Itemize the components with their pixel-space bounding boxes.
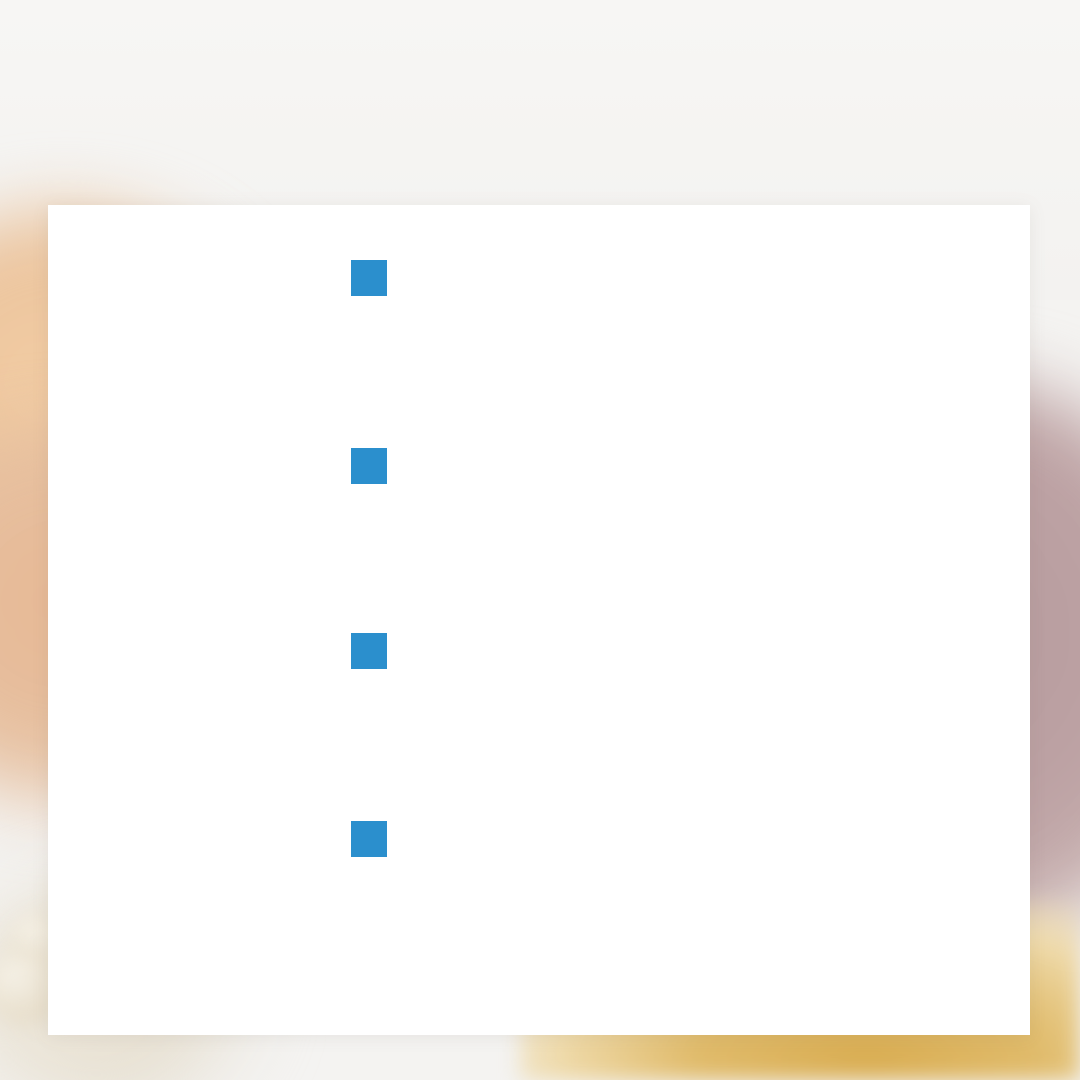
ingredient-text-block [351,630,1031,684]
ingredient-row [48,431,1030,619]
ingredient-headline [351,445,1031,487]
ingredient-text-block [351,445,1031,499]
ingredient-headline [351,257,1031,299]
ingredient-text-block [351,818,1031,872]
soybeans-photo [88,243,334,419]
ingredient-row [48,243,1030,431]
ingredient-row [48,616,1030,804]
ingredient-number-badge [351,633,387,669]
barley-photo [88,431,334,607]
ingredient-text-block [351,257,1031,311]
ingredient-number-badge [351,448,387,484]
ingredient-number-badge [351,821,387,857]
ingredient-number-badge [351,260,387,296]
korean-pear-photo [88,804,334,980]
ingredient-headline [351,818,1031,860]
ingredient-row [48,804,1030,992]
pomegranate-photo [88,616,334,792]
ingredient-headline [351,630,1031,672]
